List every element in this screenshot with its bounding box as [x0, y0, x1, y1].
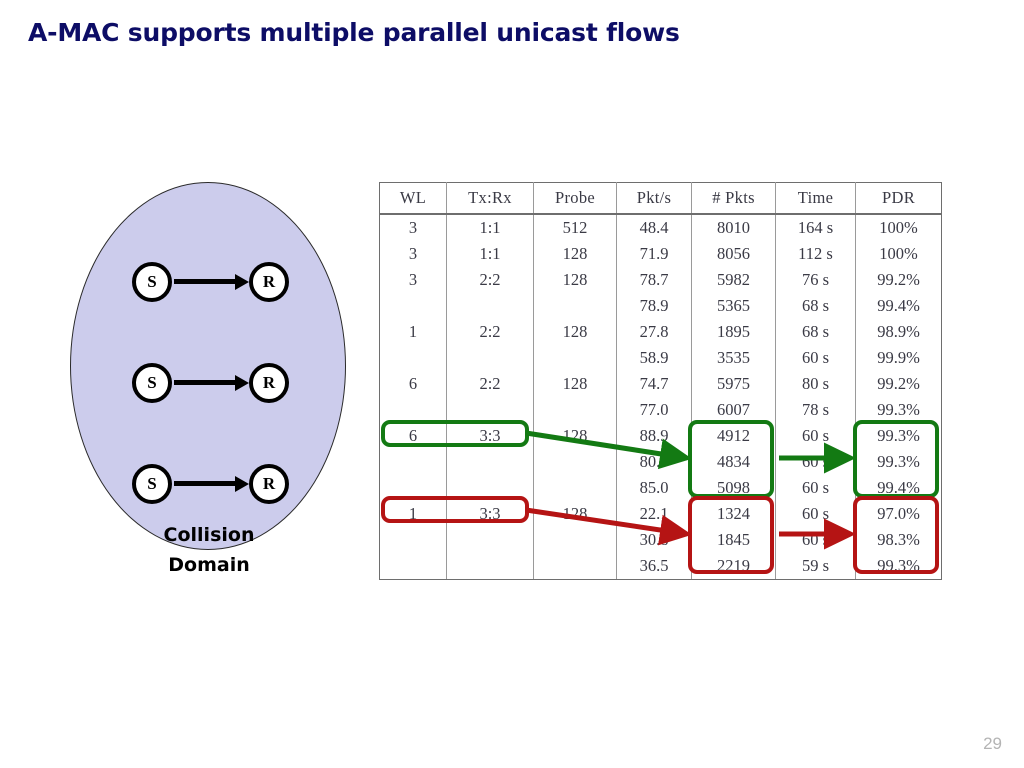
cell-pkts-s: 85.0: [617, 475, 692, 501]
cell-wl: [380, 293, 447, 319]
cell-num-pkts: 5982: [692, 267, 776, 293]
cell-probe: [534, 449, 617, 475]
cell-pdr: 99.2%: [856, 267, 942, 293]
flow-arrow-2: [174, 380, 236, 385]
cell-wl: [380, 527, 447, 553]
cell-num-pkts: 3535: [692, 345, 776, 371]
receiver-node-3-label: R: [263, 474, 275, 494]
table-row: 31:151248.48010164 s100%: [380, 214, 942, 241]
sender-node-1: S: [132, 262, 172, 302]
cell-pkts-s: 71.9: [617, 241, 692, 267]
cell-txrx: [447, 527, 534, 553]
cell-probe: 128: [534, 501, 617, 527]
cell-txrx: 2:2: [447, 267, 534, 293]
cell-wl: 3: [380, 267, 447, 293]
receiver-node-1: R: [249, 262, 289, 302]
sender-node-2-label: S: [147, 373, 156, 393]
cell-probe: 128: [534, 267, 617, 293]
cell-probe: [534, 527, 617, 553]
column-header-probe: Probe: [534, 183, 617, 215]
cell-time: 68 s: [776, 293, 856, 319]
cell-probe: 128: [534, 319, 617, 345]
collision-domain-label-line2: Domain: [64, 550, 354, 580]
page-number: 29: [983, 734, 1002, 754]
page-title: A-MAC supports multiple parallel unicast…: [28, 18, 680, 47]
cell-time: 60 s: [776, 527, 856, 553]
cell-pkts-s: 80.7: [617, 449, 692, 475]
cell-pdr: 100%: [856, 214, 942, 241]
cell-pdr: 100%: [856, 241, 942, 267]
cell-pkts-s: 27.8: [617, 319, 692, 345]
cell-wl: 3: [380, 214, 447, 241]
cell-pkts-s: 58.9: [617, 345, 692, 371]
cell-probe: [534, 475, 617, 501]
cell-pdr: 99.9%: [856, 345, 942, 371]
cell-wl: [380, 345, 447, 371]
column-header-pdr: PDR: [856, 183, 942, 215]
receiver-node-1-label: R: [263, 272, 275, 292]
cell-pkts-s: 22.1: [617, 501, 692, 527]
cell-num-pkts: 1895: [692, 319, 776, 345]
red-highlight-pdr: [853, 496, 939, 574]
table-row: 78.9536568 s99.4%: [380, 293, 942, 319]
cell-probe: 128: [534, 241, 617, 267]
cell-txrx: 2:2: [447, 319, 534, 345]
cell-probe: [534, 397, 617, 423]
slide: A-MAC supports multiple parallel unicast…: [0, 0, 1024, 768]
cell-wl: 1: [380, 319, 447, 345]
cell-pdr: 98.9%: [856, 319, 942, 345]
cell-probe: [534, 293, 617, 319]
cell-time: 60 s: [776, 501, 856, 527]
collision-domain-diagram: S R S R S R Collision Domain: [64, 182, 354, 582]
receiver-node-2-label: R: [263, 373, 275, 393]
cell-pkts-s: 74.7: [617, 371, 692, 397]
cell-time: 112 s: [776, 241, 856, 267]
column-header-num-pkts: # Pkts: [692, 183, 776, 215]
cell-txrx: 2:2: [447, 371, 534, 397]
table-row: 12:212827.8189568 s98.9%: [380, 319, 942, 345]
column-header-wl: WL: [380, 183, 447, 215]
cell-time: 76 s: [776, 267, 856, 293]
cell-time: 60 s: [776, 449, 856, 475]
cell-txrx: 1:1: [447, 214, 534, 241]
table-row: 32:212878.7598276 s99.2%: [380, 267, 942, 293]
cell-pkts-s: 48.4: [617, 214, 692, 241]
cell-time: 80 s: [776, 371, 856, 397]
receiver-node-3: R: [249, 464, 289, 504]
cell-num-pkts: 8056: [692, 241, 776, 267]
cell-probe: 512: [534, 214, 617, 241]
cell-txrx: 1:1: [447, 241, 534, 267]
table-header-row: WL Tx:Rx Probe Pkt/s # Pkts Time PDR: [380, 183, 942, 215]
table-row: 62:212874.7597580 s99.2%: [380, 371, 942, 397]
cell-time: 59 s: [776, 553, 856, 580]
cell-txrx: [447, 553, 534, 580]
cell-txrx: [447, 345, 534, 371]
green-highlight-num-pkts: [688, 420, 774, 498]
cell-wl: 3: [380, 241, 447, 267]
collision-domain-ellipse: [70, 182, 346, 550]
column-header-txrx: Tx:Rx: [447, 183, 534, 215]
cell-wl: [380, 449, 447, 475]
collision-domain-label-line1: Collision: [64, 520, 354, 550]
cell-probe: [534, 553, 617, 580]
cell-time: 60 s: [776, 423, 856, 449]
green-highlight-pdr: [853, 420, 939, 498]
table-row: 58.9353560 s99.9%: [380, 345, 942, 371]
cell-num-pkts: 5365: [692, 293, 776, 319]
cell-time: 60 s: [776, 475, 856, 501]
flow-arrow-1: [174, 279, 236, 284]
cell-pkts-s: 88.9: [617, 423, 692, 449]
sender-node-1-label: S: [147, 272, 156, 292]
red-highlight-wl-txrx: [381, 496, 529, 523]
table-row: 31:112871.98056112 s100%: [380, 241, 942, 267]
green-highlight-wl-txrx: [381, 420, 529, 447]
cell-time: 78 s: [776, 397, 856, 423]
sender-node-2: S: [132, 363, 172, 403]
receiver-node-2: R: [249, 363, 289, 403]
cell-txrx: [447, 449, 534, 475]
cell-num-pkts: 8010: [692, 214, 776, 241]
column-header-time: Time: [776, 183, 856, 215]
cell-probe: [534, 345, 617, 371]
cell-pkts-s: 30.8: [617, 527, 692, 553]
cell-time: 164 s: [776, 214, 856, 241]
cell-pkts-s: 36.5: [617, 553, 692, 580]
cell-time: 68 s: [776, 319, 856, 345]
cell-num-pkts: 5975: [692, 371, 776, 397]
red-highlight-num-pkts: [688, 496, 774, 574]
cell-pkts-s: 78.9: [617, 293, 692, 319]
sender-node-3: S: [132, 464, 172, 504]
cell-pdr: 99.2%: [856, 371, 942, 397]
sender-node-3-label: S: [147, 474, 156, 494]
collision-domain-label: Collision Domain: [64, 520, 354, 581]
cell-time: 60 s: [776, 345, 856, 371]
cell-wl: [380, 553, 447, 580]
column-header-pkts-s: Pkt/s: [617, 183, 692, 215]
cell-probe: 128: [534, 371, 617, 397]
flow-arrow-3: [174, 481, 236, 486]
cell-probe: 128: [534, 423, 617, 449]
cell-pkts-s: 77.0: [617, 397, 692, 423]
cell-wl: 6: [380, 371, 447, 397]
cell-txrx: [447, 293, 534, 319]
cell-pdr: 99.4%: [856, 293, 942, 319]
cell-pkts-s: 78.7: [617, 267, 692, 293]
